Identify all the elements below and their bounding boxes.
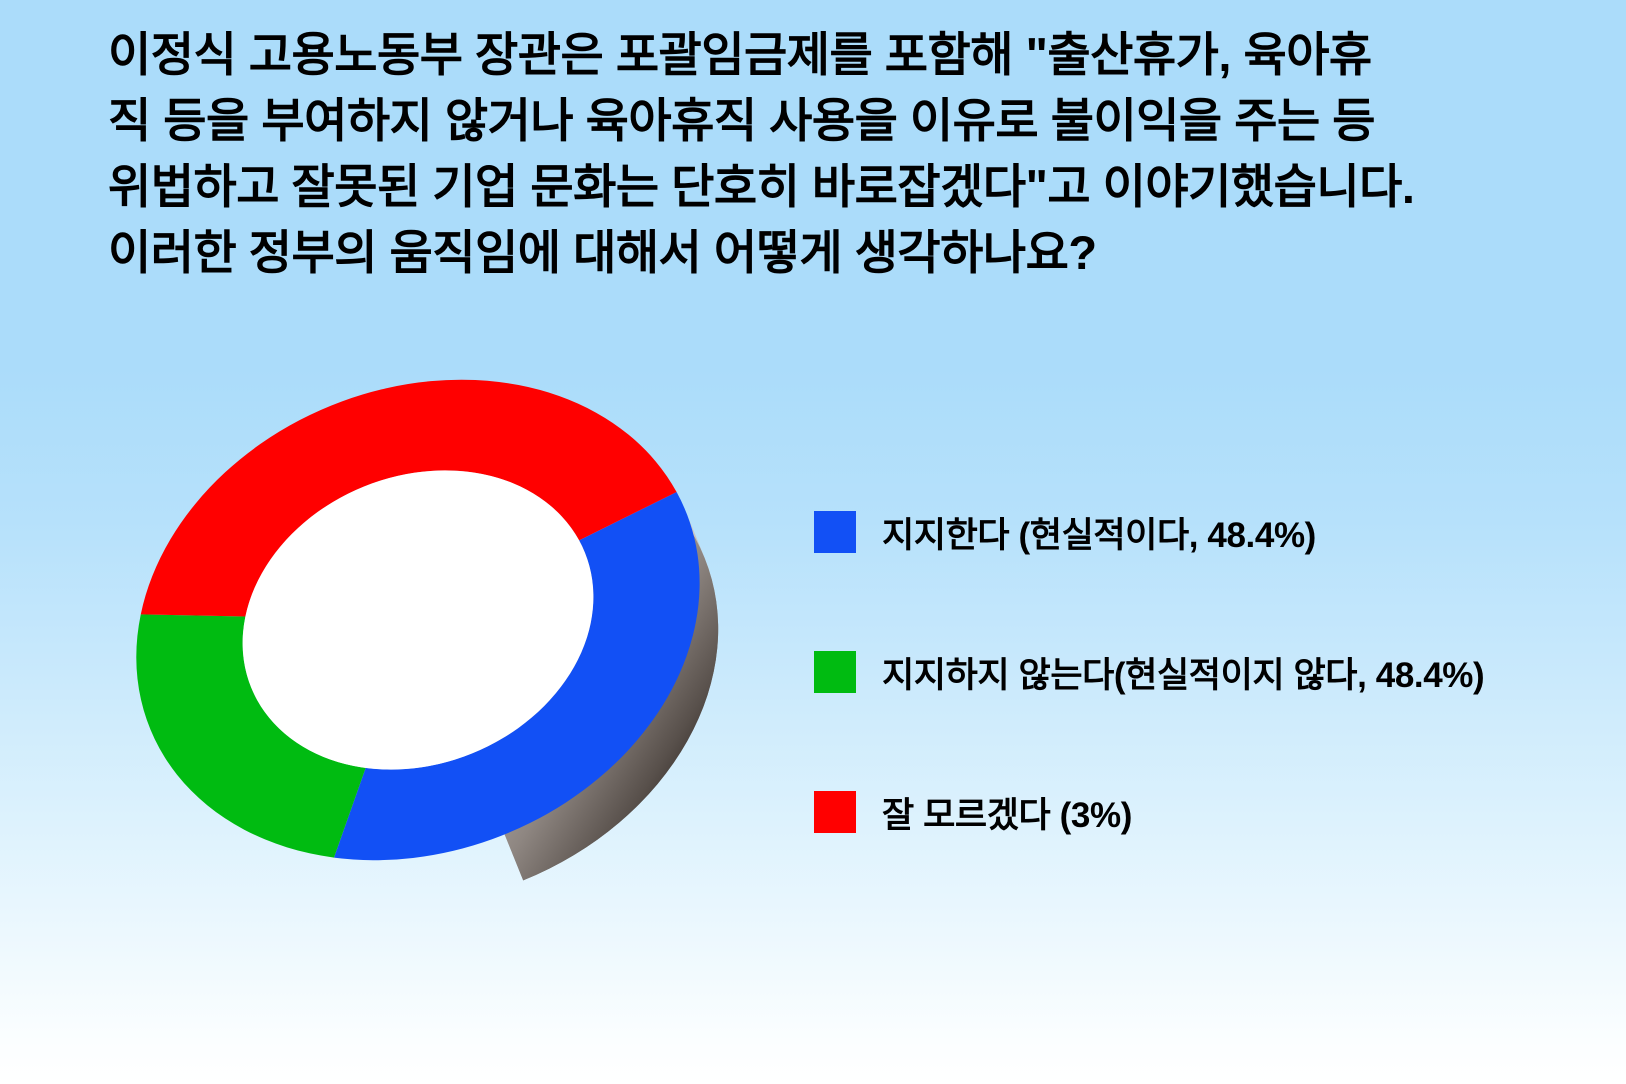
legend-item-oppose[interactable]: 지지하지 않는다(현실적이지 않다, 48.4%) bbox=[814, 602, 1614, 742]
red-square-swatch bbox=[814, 791, 856, 833]
legend-item-support[interactable]: 지지한다 (현실적이다, 48.4%) bbox=[814, 462, 1614, 602]
blue-square-swatch bbox=[814, 511, 856, 553]
legend-label-oppose: 지지하지 않는다(현실적이지 않다, 48.4%) bbox=[882, 647, 1484, 698]
green-square-swatch bbox=[814, 651, 856, 693]
donut-body bbox=[88, 320, 748, 940]
donut-chart bbox=[88, 320, 748, 940]
chart-legend: 지지한다 (현실적이다, 48.4%) 지지하지 않는다(현실적이지 않다, 4… bbox=[814, 462, 1614, 882]
legend-item-unsure[interactable]: 잘 모르겠다 (3%) bbox=[814, 742, 1614, 882]
donut-chart-svg bbox=[88, 320, 748, 940]
legend-label-support: 지지한다 (현실적이다, 48.4%) bbox=[882, 507, 1316, 558]
legend-label-unsure: 잘 모르겠다 (3%) bbox=[882, 787, 1132, 838]
page-title: 이정식 고용노동부 장관은 포괄임금제를 포함해 "출산휴가, 육아휴 직 등을… bbox=[108, 22, 1528, 286]
